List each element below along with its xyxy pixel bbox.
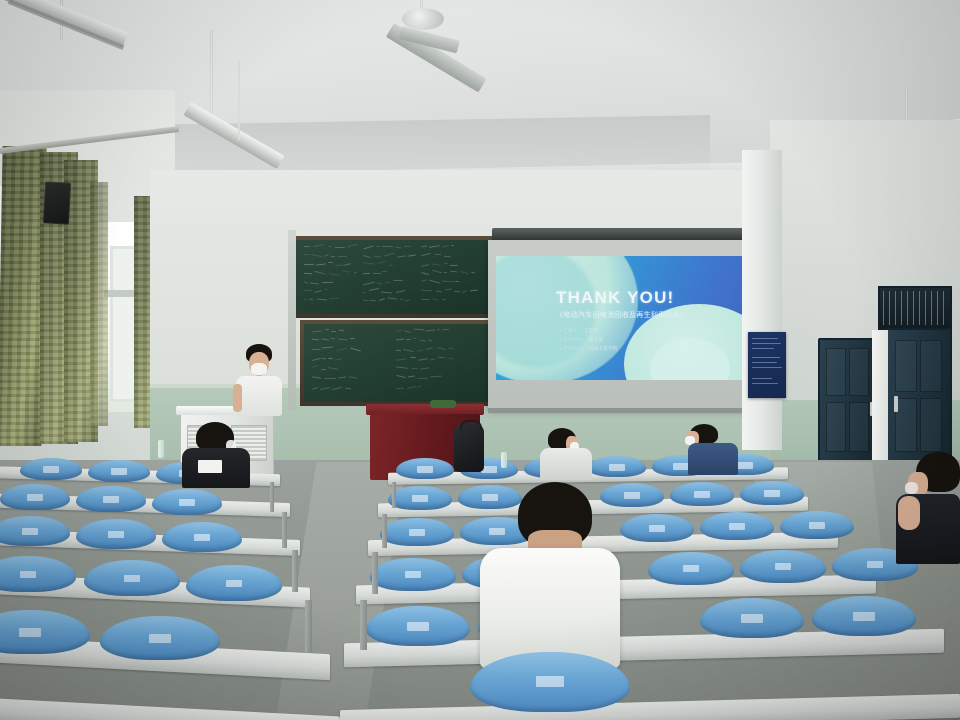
chalk-mark (408, 376, 415, 378)
door-gap (872, 330, 888, 462)
chalk-mark (322, 347, 333, 349)
chalk-mark (338, 339, 348, 341)
chalk-mark (312, 349, 321, 351)
chalk-mark (304, 246, 310, 247)
chalk-mark (324, 289, 328, 290)
chalk-mark (419, 339, 426, 342)
chalk-mark (426, 347, 433, 350)
chalk-mark (404, 246, 411, 247)
chalk-mark (444, 256, 451, 258)
chalk-mark (321, 338, 329, 341)
bullet-marker-icon: ▪ (560, 337, 562, 342)
chalk-mark (421, 299, 430, 301)
chalk-mark (393, 280, 403, 282)
chair (100, 616, 220, 660)
slide-bullet-1: ▪ 汇报人： 王思宇 (560, 328, 598, 334)
desk-leg (305, 600, 312, 652)
chalk-mark (336, 347, 347, 351)
chalk-mark (436, 290, 443, 293)
wall-speaker (43, 181, 71, 224)
chalk-mark (304, 290, 312, 292)
chalk-mark (304, 272, 312, 274)
desk-leg (270, 482, 274, 512)
transom-bars-icon (883, 291, 947, 325)
chalk-mark (317, 298, 327, 300)
slide-headline: THANK YOU! (556, 288, 674, 308)
chalk-mark (363, 245, 374, 249)
chalk-mark (353, 272, 357, 274)
chair (470, 652, 630, 712)
desk-leg (292, 550, 298, 592)
chair (458, 485, 522, 509)
chalk-mark (333, 387, 343, 390)
chalk-mark (342, 270, 351, 273)
chalk-mark (417, 350, 424, 353)
chalk-mark (462, 291, 467, 294)
chalk-mark (429, 245, 440, 248)
chalk-mark (396, 338, 404, 340)
chalk-mark (329, 297, 339, 299)
chalk-mark (406, 339, 411, 340)
blackboard-side-rail (288, 230, 296, 410)
chalk-mark (304, 254, 309, 256)
blackboard-upper (296, 240, 488, 314)
backpack-handle (460, 420, 482, 430)
water-bottle (158, 440, 164, 458)
chalk-mark (335, 247, 345, 248)
chalk-mark (460, 271, 469, 274)
slide-bullet-3: ▪ 学院专业： 机械工程学院 (560, 346, 618, 352)
chalk-mark (454, 291, 460, 293)
chalk-mark (444, 262, 448, 264)
chalk-mark (376, 246, 380, 248)
chalk-mark (382, 246, 393, 248)
chalk-mark (428, 339, 432, 341)
bullet-marker-icon: ▪ (560, 346, 562, 351)
rear-door-left[interactable] (818, 338, 878, 464)
chair (588, 456, 646, 477)
chalk-mark (309, 299, 314, 301)
chalk-mark (363, 291, 366, 293)
chalk-mark (322, 357, 326, 359)
student-shirt (480, 548, 620, 668)
chalk-mark (403, 348, 414, 351)
chalk-mark (363, 281, 375, 285)
chalk-mark (312, 358, 321, 361)
student-shirt (540, 448, 592, 480)
slide-bullet-2-value: 李子豪 (589, 337, 603, 342)
chalk-mark (321, 369, 326, 370)
chair (76, 486, 146, 512)
chalk-mark (421, 289, 432, 290)
chalk-mark (325, 329, 329, 331)
chalk-mark (421, 272, 429, 275)
chalk-mark (372, 255, 380, 257)
chair (396, 458, 454, 479)
chalk-mark (350, 338, 355, 339)
chalk-mark (314, 290, 323, 293)
chair (84, 560, 180, 596)
door-handle-icon[interactable] (894, 396, 898, 412)
presenter-arm (233, 384, 242, 412)
chalk-mark (396, 290, 405, 293)
chalk-mark (410, 357, 416, 359)
door-panel (895, 398, 917, 452)
chalk-mark (447, 358, 454, 360)
chair (162, 522, 242, 552)
chalk-mark (400, 299, 404, 300)
water-bottle (501, 452, 507, 468)
door-panel (826, 402, 846, 452)
chalk-mark (448, 347, 454, 349)
slide-bullet-1-value: 王思宇 (584, 328, 598, 333)
chalk-mark (304, 281, 308, 283)
chalk-mark (418, 358, 428, 361)
chalk-mark (322, 282, 333, 283)
chalk-mark (324, 378, 336, 380)
slide-subtitle: 《电动汽车旧电池回收及再生利用分析》 (556, 310, 687, 320)
ceiling-fan-hub (402, 8, 444, 30)
classroom-photo: THANK YOU! 《电动汽车旧电池回收及再生利用分析》 ▪ 汇报人： 王思宇… (0, 0, 960, 720)
chair (812, 596, 916, 636)
chalk-mark (471, 272, 475, 274)
chalk-mark (405, 300, 411, 302)
chalk-mark (432, 299, 439, 301)
chalk-mark (396, 366, 408, 369)
rear-door-right[interactable] (886, 328, 952, 468)
chalk-mark (430, 358, 435, 360)
presenter-face-mask (251, 363, 267, 375)
desk-leg (382, 514, 387, 548)
chalk-mark (370, 300, 376, 302)
chalk-mark (442, 298, 446, 300)
chalk-mark (430, 375, 442, 377)
chair (388, 486, 452, 510)
chalk-mark (407, 386, 416, 389)
chair (0, 484, 70, 510)
slide-bullet-1-label: 汇报人： (563, 328, 582, 333)
chair (780, 511, 854, 539)
chalk-mark (377, 282, 383, 285)
chalk-mark (396, 350, 401, 352)
slide-bullet-2-label: 指导老师： (563, 337, 587, 342)
chalk-mark (438, 357, 446, 359)
chalk-mark (396, 359, 407, 362)
desk-leg (372, 552, 378, 594)
chalk-mark (329, 273, 340, 275)
chalk-mark (328, 367, 338, 370)
chalk-mark (338, 376, 346, 379)
chalk-mark (381, 291, 392, 293)
presenter-shirt (236, 376, 282, 416)
chalk-mark (455, 281, 459, 282)
chalk-mark (425, 329, 435, 331)
chalk-mark (369, 288, 379, 291)
door-transom (878, 286, 952, 330)
chair (380, 518, 454, 546)
curtain (90, 182, 108, 426)
backpack (454, 424, 484, 472)
chalk-mark (396, 388, 404, 390)
chalk-mark (312, 331, 322, 334)
chalk-mark (417, 386, 422, 389)
chalk-mark (431, 264, 441, 266)
chalk-mark (470, 289, 478, 291)
chalk-mark (304, 264, 314, 265)
chalk-mark (404, 330, 411, 333)
chalk-mark (397, 255, 406, 257)
chalk-mark (320, 387, 330, 391)
chalk-mark (330, 330, 335, 331)
chalk-mark (363, 262, 375, 264)
chalk-mark (396, 375, 406, 379)
blackboard-lower (304, 324, 488, 402)
chalk-mark (331, 256, 335, 257)
chalk-mark (304, 298, 307, 299)
chalk-mark (421, 264, 429, 267)
chalk-mark (435, 254, 441, 256)
chalk-mark (328, 358, 333, 360)
chalk-mark (313, 244, 324, 248)
chalk-mark (330, 338, 335, 339)
chalk-mark (432, 270, 442, 274)
chalk-mark (421, 280, 427, 283)
chair (20, 458, 82, 480)
chalk-mark (442, 329, 449, 331)
chalk-mark (445, 289, 452, 291)
chair (740, 550, 826, 583)
chalk-mark (450, 265, 458, 266)
chalk-mark (312, 365, 318, 368)
chalk-mark (437, 347, 446, 350)
chalk-mark (382, 271, 388, 273)
chalk-mark (377, 261, 386, 264)
slide: THANK YOU! 《电动汽车旧电池回收及再生利用分析》 ▪ 汇报人： 王思宇… (496, 256, 748, 380)
chalk-mark (407, 255, 416, 258)
chalk-mark (338, 256, 347, 257)
chalk-mark (414, 329, 424, 331)
chalk-mark (413, 338, 416, 339)
chair (700, 598, 804, 638)
chalk-mark (450, 271, 457, 273)
chalk-mark (324, 254, 329, 257)
chalk-mark (343, 263, 351, 266)
door-panel (895, 340, 917, 392)
chair (88, 460, 150, 482)
chalk-mark (411, 368, 418, 370)
chalk-mark (334, 358, 341, 360)
chalk-mark (312, 387, 318, 390)
chalk-mark (395, 247, 401, 249)
chalk-mark (373, 273, 381, 274)
bullet-marker-icon: ▪ (560, 328, 562, 333)
shirt-tag (198, 460, 222, 473)
desk-leg (360, 600, 367, 650)
chalk-mark (311, 254, 322, 257)
desk-leg (392, 482, 396, 508)
door-panel (826, 348, 846, 396)
slide-bullet-3-value: 机械工程学院 (589, 346, 618, 351)
chair (670, 482, 734, 506)
door-panel (849, 348, 869, 396)
projection-screen: THANK YOU! 《电动汽车旧电池回收及再生利用分析》 ▪ 汇报人： 王思宇… (488, 240, 756, 410)
chalk-mark (328, 245, 332, 246)
chair (600, 483, 664, 507)
chalk-mark (421, 253, 431, 256)
chalk-mark (420, 367, 430, 370)
chalk-mark (396, 330, 402, 332)
wall-pillar (742, 150, 782, 450)
chalk-mark (312, 338, 319, 341)
chalk-mark (350, 348, 361, 352)
chalk-mark (417, 378, 428, 379)
chalk-mark (314, 271, 325, 275)
desk-leg (282, 512, 287, 548)
chalk-mark (328, 262, 333, 264)
chalk-mark (442, 280, 454, 282)
chalk-mark (388, 265, 392, 267)
chair (186, 565, 282, 601)
student-jacket (688, 443, 738, 475)
student-arm (898, 496, 920, 530)
screen-bottom-bar (488, 408, 756, 413)
chair (740, 481, 804, 505)
door-panel (849, 402, 869, 452)
chalk-mark (363, 255, 371, 258)
chalk-mark (442, 246, 449, 249)
chalk-mark (310, 282, 319, 284)
chair (370, 558, 456, 591)
plant (430, 400, 456, 408)
chair (152, 489, 222, 515)
chalk-mark (387, 297, 397, 300)
chair (366, 606, 470, 646)
chalk-mark (437, 329, 441, 331)
chair (76, 519, 156, 549)
notice-board (748, 332, 786, 398)
chalk-mark (429, 280, 440, 284)
chalk-mark (312, 376, 321, 378)
chalk-mark (335, 264, 342, 266)
chair (620, 514, 694, 542)
chalk-mark (451, 245, 454, 247)
chair (700, 512, 774, 540)
student-face-mask (905, 482, 918, 494)
chalk-mark (345, 387, 351, 389)
chalk-mark (444, 271, 447, 273)
door-panel (920, 340, 942, 392)
chalk-mark (384, 252, 395, 256)
chalk-mark (363, 300, 369, 302)
chalk-mark (348, 377, 356, 379)
light-rod (238, 60, 240, 140)
chalk-mark (379, 298, 386, 301)
chalk-mark (385, 282, 390, 283)
slide-bullet-2: ▪ 指导老师： 李子豪 (560, 337, 603, 343)
chalk-mark (421, 245, 427, 247)
slide-bullet-3-label: 学院专业： (563, 346, 587, 351)
chalk-mark (316, 264, 326, 266)
chalk-mark (363, 273, 370, 275)
chalk-mark (347, 243, 358, 248)
chair (648, 552, 734, 585)
door-panel (920, 398, 942, 452)
chalk-mark (339, 330, 344, 332)
